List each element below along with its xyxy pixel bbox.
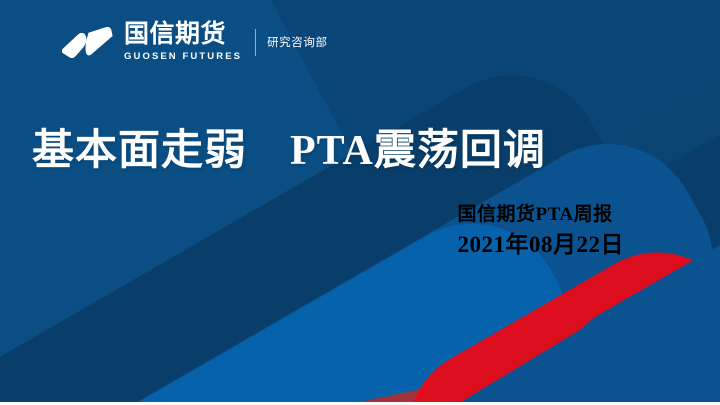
cover-slide: 国信期货 GUOSEN FUTURES 研究咨询部 基本面走弱 PTA震荡回调 … [0,0,720,405]
report-name: 国信期货PTA周报 [458,203,625,228]
guosen-folded-pages-logo-icon [58,19,116,65]
brand-wordmark: 国信期货 GUOSEN FUTURES [124,19,242,65]
report-date: 2021年08月22日 [458,230,625,260]
brand-name-cn: 国信期货 [124,22,242,47]
brand-name-en: GUOSEN FUTURES [124,52,242,62]
blue-overlay-capsule [523,148,720,405]
report-meta: 国信期货PTA周报 2021年08月22日 [458,203,625,260]
dark-red-wedge [345,295,720,405]
department-label: 研究咨询部 [267,34,328,50]
header-divider [255,29,256,56]
blue-overlay-wedge [420,245,720,405]
page-title: 基本面走弱 PTA震荡回调 [32,128,546,175]
brand-header: 国信期货 GUOSEN FUTURES 研究咨询部 [58,16,328,68]
